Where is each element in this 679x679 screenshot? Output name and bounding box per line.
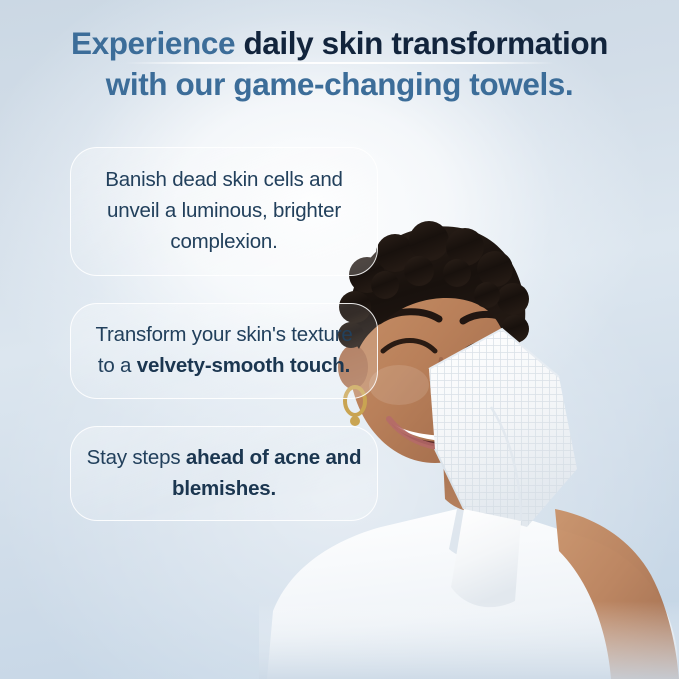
benefit-card-texture: Transform your skin's texture to a velve… bbox=[70, 303, 378, 399]
benefit-card-text: Transform your skin's texture to a velve… bbox=[85, 319, 363, 381]
benefit-card-bold-text: velvety-smooth touch. bbox=[137, 354, 350, 377]
headline-underline-rule bbox=[125, 62, 555, 64]
benefit-card-bold-text: ahead of acne and blemishes. bbox=[172, 446, 361, 500]
benefit-card-brightening: Banish dead skin cells and unveil a lumi… bbox=[70, 147, 378, 276]
benefit-card-text: Stay steps ahead of acne and blemishes. bbox=[85, 442, 363, 504]
benefit-card-regular-text: Stay steps bbox=[87, 446, 186, 469]
headline-line-2: with our game-changing towels. bbox=[0, 65, 679, 103]
headline-accent-text: Experience bbox=[71, 25, 235, 61]
headline-line-1: Experience daily skin transformation bbox=[0, 24, 679, 65]
benefit-card-regular-text: Banish dead skin cells and unveil a lumi… bbox=[105, 168, 343, 253]
headline-strong-text: daily skin transformation bbox=[243, 25, 608, 61]
photo-bottom-fade bbox=[259, 601, 679, 679]
benefit-card-acne: Stay steps ahead of acne and blemishes. bbox=[70, 426, 378, 521]
benefit-card-text: Banish dead skin cells and unveil a lumi… bbox=[85, 164, 363, 257]
benefit-card-list: Banish dead skin cells and unveil a lumi… bbox=[70, 147, 378, 521]
promo-banner: Experience daily skin transformation wit… bbox=[0, 0, 679, 679]
